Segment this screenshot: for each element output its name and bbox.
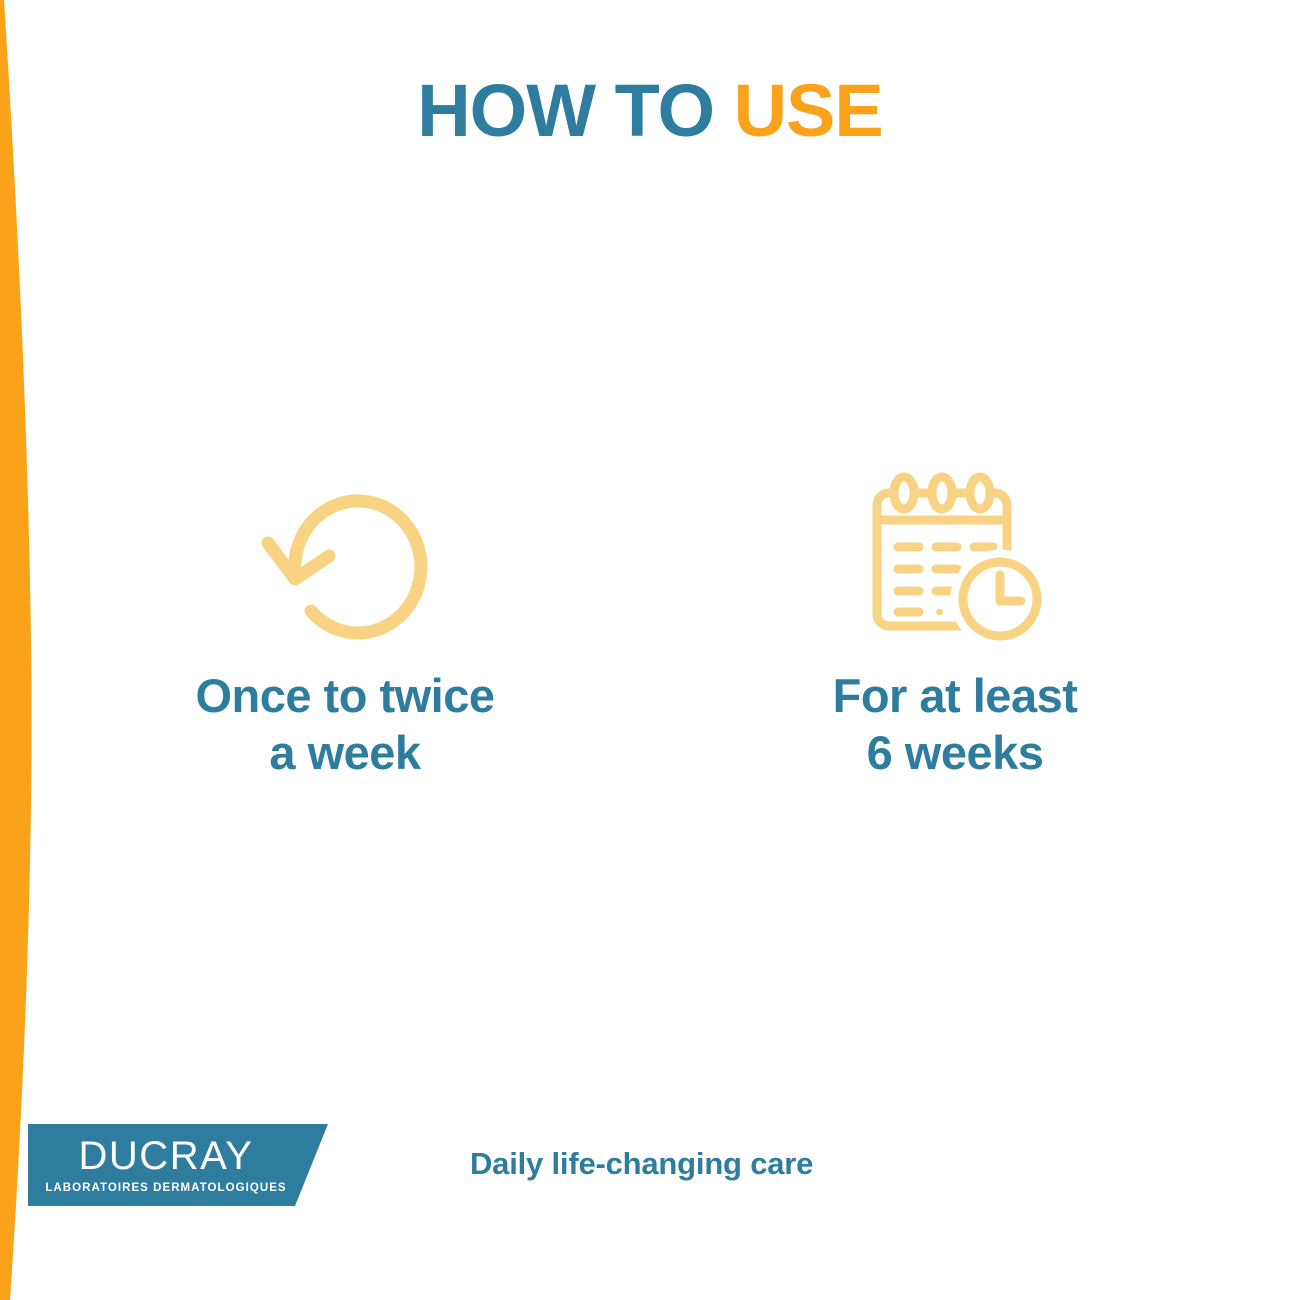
step-frequency-icon-wrap [245, 470, 445, 645]
page-title-part-1: HOW TO [417, 69, 733, 152]
step-frequency: Once to twice a week [110, 470, 580, 782]
brand-tagline: Daily life-changing care [470, 1146, 813, 1182]
page-title-part-2: USE [734, 69, 883, 152]
step-frequency-label: Once to twice a week [195, 667, 494, 782]
calendar-clock-icon [863, 470, 1048, 645]
step-duration-icon-wrap [863, 470, 1048, 645]
steps-row: Once to twice a week [110, 470, 1190, 782]
brand-banner: DUCRAY LABORATOIRES DERMATOLOGIQUES [28, 1124, 328, 1206]
circular-arrow-icon [245, 470, 445, 645]
left-curved-accent-shape [0, 0, 70, 1300]
brand-subtitle: LABORATOIRES DERMATOLOGIQUES [45, 1183, 286, 1195]
step-duration: For at least 6 weeks [720, 470, 1190, 782]
brand-name: DUCRAY [79, 1136, 254, 1176]
how-to-use-card: HOW TO USE Once to twice a week [0, 0, 1300, 1300]
step-duration-label: For at least 6 weeks [833, 667, 1078, 782]
page-title: HOW TO USE [0, 72, 1300, 150]
